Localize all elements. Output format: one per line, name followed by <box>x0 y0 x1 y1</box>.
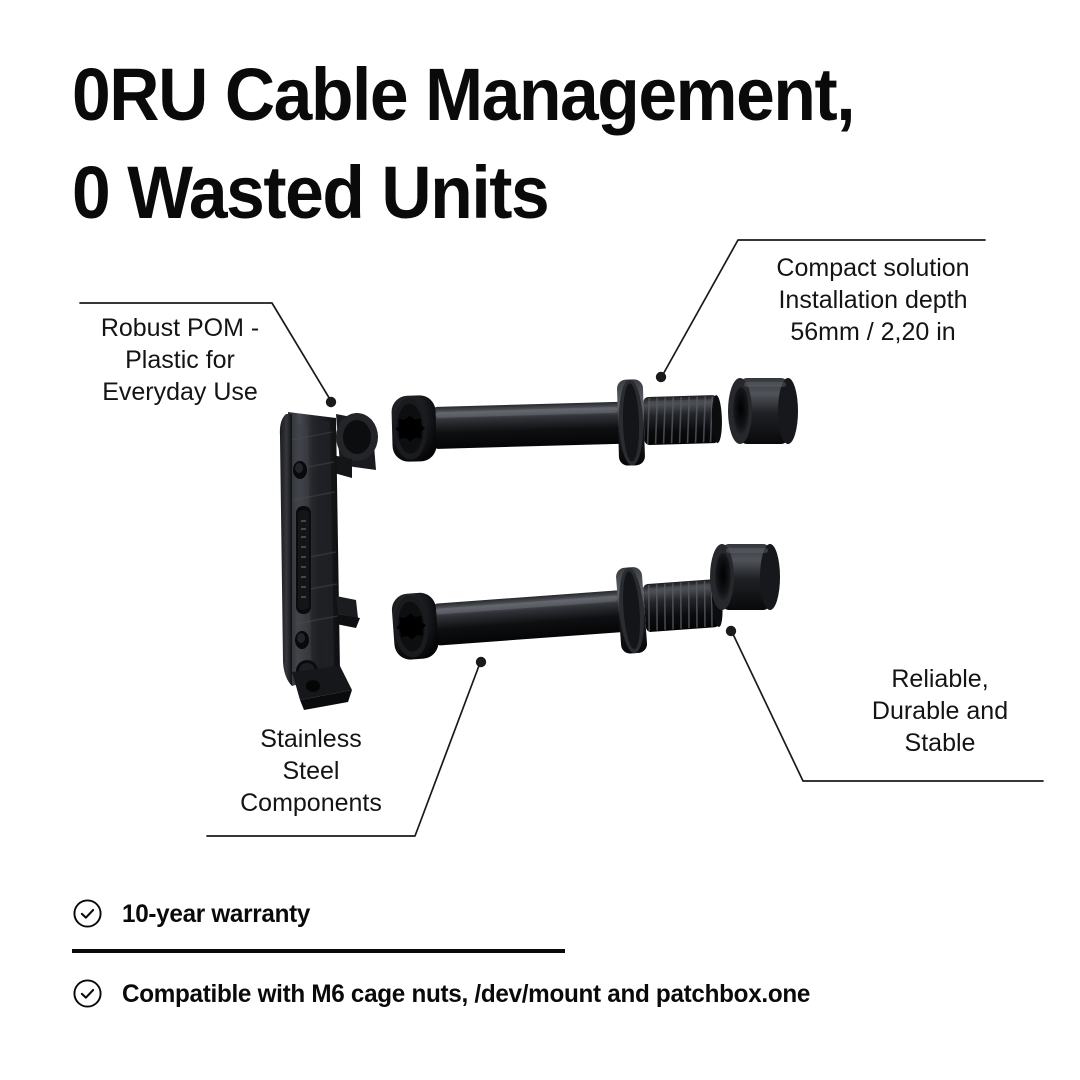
leader-dot-pom <box>326 397 336 407</box>
feature-item-warranty: 10-year warranty <box>72 898 316 929</box>
check-circle-icon <box>72 898 103 929</box>
leader-dot-reliable <box>726 626 736 636</box>
callout-text-steel: Stainless Steel Components <box>208 723 414 819</box>
callout-text-depth: Compact solution Installation depth 56mm… <box>748 252 998 348</box>
leader-dot-depth <box>656 372 666 382</box>
check-circle-icon <box>72 978 103 1009</box>
callout-text-pom: Robust POM - Plastic for Everyday Use <box>82 312 278 408</box>
callout-text-reliable: Reliable, Durable and Stable <box>842 663 1038 759</box>
leader-dot-steel <box>476 657 486 667</box>
feature-label-warranty: 10-year warranty <box>122 899 310 929</box>
feature-item-compatibility: Compatible with M6 cage nuts, /dev/mount… <box>72 978 831 1009</box>
feature-divider <box>72 949 565 953</box>
infographic-page: 0RU Cable Management, 0 Wasted Units <box>0 0 1080 1080</box>
feature-label-compatibility: Compatible with M6 cage nuts, /dev/mount… <box>122 979 810 1009</box>
